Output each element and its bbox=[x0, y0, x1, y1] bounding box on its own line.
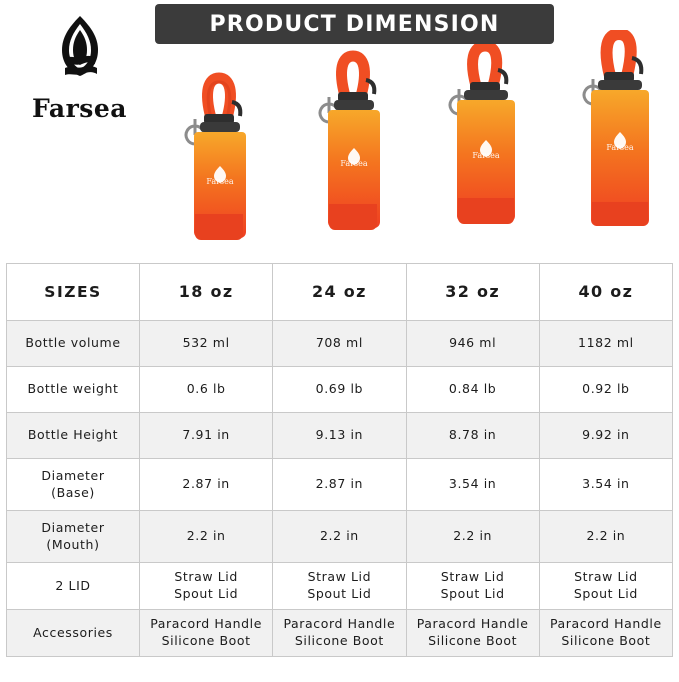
cell-height-18oz: 7.91 in bbox=[140, 413, 273, 459]
cell-diameter-mouth-40oz: 2.2 in bbox=[539, 511, 672, 563]
cell-line2: Spout Lid bbox=[542, 586, 670, 603]
row-label-bottle-height: Bottle Height bbox=[7, 413, 140, 459]
cell-line2: Silicone Boot bbox=[542, 633, 670, 650]
cell-accessories-40oz: Paracord Handle Silicone Boot bbox=[539, 610, 672, 657]
row-label-line2: (Base) bbox=[9, 485, 137, 502]
cell-height-32oz: 8.78 in bbox=[406, 413, 539, 459]
cell-accessories-18oz: Paracord Handle Silicone Boot bbox=[140, 610, 273, 657]
bottle-image-32oz: Farsea bbox=[428, 44, 542, 262]
cell-line1: Straw Lid bbox=[142, 569, 270, 586]
cell-line1: Straw Lid bbox=[275, 569, 403, 586]
cell-volume-18oz: 532 ml bbox=[140, 321, 273, 367]
cell-diameter-mouth-24oz: 2.2 in bbox=[273, 511, 406, 563]
cell-weight-40oz: 0.92 lb bbox=[539, 367, 672, 413]
cell-lid-18oz: Straw Lid Spout Lid bbox=[140, 563, 273, 610]
cell-diameter-mouth-32oz: 2.2 in bbox=[406, 511, 539, 563]
cell-line2: Silicone Boot bbox=[275, 633, 403, 650]
table-row: Bottle volume 532 ml 708 ml 946 ml 1182 … bbox=[7, 321, 673, 367]
cell-lid-24oz: Straw Lid Spout Lid bbox=[273, 563, 406, 610]
bottle-image-40oz: Farsea bbox=[560, 30, 678, 262]
row-label-bottle-weight: Bottle weight bbox=[7, 367, 140, 413]
product-dimension-table: SIZES 18 oz 24 oz 32 oz 40 oz Bottle vol… bbox=[6, 263, 673, 657]
cell-lid-40oz: Straw Lid Spout Lid bbox=[539, 563, 672, 610]
cell-diameter-base-24oz: 2.87 in bbox=[273, 459, 406, 511]
cell-line2: Silicone Boot bbox=[142, 633, 270, 650]
row-label-diameter-mouth: Diameter (Mouth) bbox=[7, 511, 140, 563]
table-row: Bottle weight 0.6 lb 0.69 lb 0.84 lb 0.9… bbox=[7, 367, 673, 413]
cell-line2: Spout Lid bbox=[142, 586, 270, 603]
cell-diameter-base-40oz: 3.54 in bbox=[539, 459, 672, 511]
brand-name: Farsea bbox=[12, 94, 147, 123]
cell-diameter-base-18oz: 2.87 in bbox=[140, 459, 273, 511]
row-label-diameter-base: Diameter (Base) bbox=[7, 459, 140, 511]
cell-weight-24oz: 0.69 lb bbox=[273, 367, 406, 413]
cell-height-24oz: 9.13 in bbox=[273, 413, 406, 459]
table-row: 2 LID Straw Lid Spout Lid Straw Lid Spou… bbox=[7, 563, 673, 610]
cell-line1: Paracord Handle bbox=[142, 616, 270, 633]
cell-line1: Paracord Handle bbox=[409, 616, 537, 633]
table-header-row: SIZES 18 oz 24 oz 32 oz 40 oz bbox=[7, 264, 673, 321]
row-label-line2: (Mouth) bbox=[9, 537, 137, 554]
cell-line1: Straw Lid bbox=[409, 569, 537, 586]
cell-line1: Paracord Handle bbox=[542, 616, 670, 633]
row-label-bottle-volume: Bottle volume bbox=[7, 321, 140, 367]
header-cell-32oz: 32 oz bbox=[406, 264, 539, 321]
bottle-image-18oz: Farsea bbox=[164, 62, 274, 262]
header-cell-sizes: SIZES bbox=[7, 264, 140, 321]
title-banner: PRODUCT DIMENSION bbox=[155, 4, 554, 44]
cell-accessories-32oz: Paracord Handle Silicone Boot bbox=[406, 610, 539, 657]
flame-wave-logo-icon bbox=[46, 14, 114, 92]
row-label-accessories: Accessories bbox=[7, 610, 140, 657]
product-image-row: Farsea Farsea bbox=[140, 48, 679, 262]
cell-accessories-24oz: Paracord Handle Silicone Boot bbox=[273, 610, 406, 657]
row-label-2-lid: 2 LID bbox=[7, 563, 140, 610]
cell-diameter-mouth-18oz: 2.2 in bbox=[140, 511, 273, 563]
cell-weight-18oz: 0.6 lb bbox=[140, 367, 273, 413]
cell-volume-24oz: 708 ml bbox=[273, 321, 406, 367]
header-cell-24oz: 24 oz bbox=[273, 264, 406, 321]
cell-line1: Paracord Handle bbox=[275, 616, 403, 633]
brand-block: Farsea bbox=[12, 14, 147, 123]
bottle-image-24oz: Farsea bbox=[298, 50, 408, 262]
table-row: Accessories Paracord Handle Silicone Boo… bbox=[7, 610, 673, 657]
table-row: Bottle Height 7.91 in 9.13 in 8.78 in 9.… bbox=[7, 413, 673, 459]
row-label-line1: Diameter bbox=[9, 520, 137, 537]
cell-line2: Silicone Boot bbox=[409, 633, 537, 650]
header-cell-40oz: 40 oz bbox=[539, 264, 672, 321]
table-row: Diameter (Mouth) 2.2 in 2.2 in 2.2 in 2.… bbox=[7, 511, 673, 563]
page-title: PRODUCT DIMENSION bbox=[209, 12, 499, 37]
cell-diameter-base-32oz: 3.54 in bbox=[406, 459, 539, 511]
cell-volume-40oz: 1182 ml bbox=[539, 321, 672, 367]
cell-height-40oz: 9.92 in bbox=[539, 413, 672, 459]
spec-table-wrapper: SIZES 18 oz 24 oz 32 oz 40 oz Bottle vol… bbox=[6, 263, 673, 657]
row-label-line1: Diameter bbox=[9, 468, 137, 485]
cell-line1: Straw Lid bbox=[542, 569, 670, 586]
cell-line2: Spout Lid bbox=[409, 586, 537, 603]
cell-lid-32oz: Straw Lid Spout Lid bbox=[406, 563, 539, 610]
cell-volume-32oz: 946 ml bbox=[406, 321, 539, 367]
header-cell-18oz: 18 oz bbox=[140, 264, 273, 321]
cell-line2: Spout Lid bbox=[275, 586, 403, 603]
table-row: Diameter (Base) 2.87 in 2.87 in 3.54 in … bbox=[7, 459, 673, 511]
cell-weight-32oz: 0.84 lb bbox=[406, 367, 539, 413]
